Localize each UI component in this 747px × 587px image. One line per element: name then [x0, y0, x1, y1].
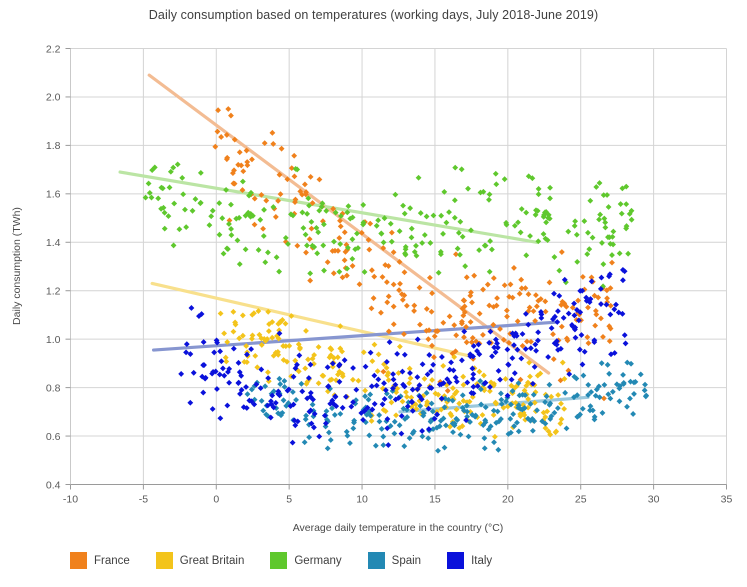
data-point	[502, 282, 508, 288]
data-point	[290, 440, 296, 446]
data-point	[256, 247, 262, 253]
data-point	[321, 268, 327, 274]
data-point	[597, 180, 603, 186]
data-point	[419, 240, 425, 246]
data-point	[585, 382, 591, 388]
data-point	[337, 411, 343, 417]
data-point	[302, 181, 308, 187]
data-point	[178, 371, 184, 377]
data-point	[581, 373, 587, 379]
data-point	[300, 225, 306, 231]
data-point	[489, 353, 495, 359]
data-point	[347, 440, 353, 446]
data-point	[179, 175, 185, 181]
data-point	[390, 371, 396, 377]
data-point	[527, 374, 533, 380]
data-point	[547, 280, 553, 286]
legend-item-france[interactable]: France	[70, 552, 130, 569]
data-point	[450, 429, 456, 435]
data-point	[400, 399, 406, 405]
data-point	[244, 162, 250, 168]
data-point	[642, 382, 648, 388]
data-point	[604, 192, 610, 198]
data-point	[235, 380, 241, 386]
x-axis-label: Average daily temperature in the country…	[293, 522, 504, 534]
data-point	[465, 186, 471, 192]
data-point	[482, 243, 488, 249]
data-point	[419, 428, 425, 434]
data-point	[303, 232, 309, 238]
data-point	[520, 331, 526, 337]
data-point	[452, 215, 458, 221]
data-point	[414, 374, 420, 380]
data-point	[425, 336, 431, 342]
data-point	[438, 213, 444, 219]
data-point	[402, 352, 408, 358]
data-point	[217, 415, 223, 421]
data-point	[363, 364, 369, 370]
data-point	[431, 354, 437, 360]
data-point	[555, 405, 561, 411]
legend-swatch-great-britain	[156, 552, 173, 569]
data-point	[317, 177, 323, 183]
data-point	[536, 191, 542, 197]
data-point	[366, 432, 372, 438]
data-point	[231, 346, 237, 352]
data-point	[558, 401, 564, 407]
data-point	[320, 243, 326, 249]
data-point	[523, 210, 529, 216]
data-point	[357, 281, 363, 287]
data-point	[302, 439, 308, 445]
data-point	[431, 213, 437, 219]
y-tick-label: 1.4	[46, 237, 61, 249]
data-point	[397, 422, 403, 428]
data-point	[167, 185, 173, 191]
data-point	[471, 273, 477, 279]
data-point	[590, 235, 596, 241]
data-point	[620, 372, 626, 378]
data-point	[325, 445, 331, 451]
data-point	[147, 190, 153, 196]
data-point	[305, 357, 311, 363]
data-point	[598, 315, 604, 321]
data-point	[218, 358, 224, 364]
data-point	[379, 426, 385, 432]
data-point	[219, 215, 225, 221]
data-point	[407, 370, 413, 376]
data-point	[286, 343, 292, 349]
data-point	[564, 425, 570, 431]
data-point	[228, 226, 234, 232]
data-point	[620, 277, 626, 283]
data-point	[350, 236, 356, 242]
data-point	[493, 181, 499, 187]
data-point	[519, 206, 525, 212]
data-point	[460, 374, 466, 380]
data-point	[373, 443, 379, 449]
data-point	[369, 306, 375, 312]
data-point	[593, 184, 599, 190]
data-point	[189, 305, 195, 311]
data-point	[274, 254, 280, 260]
data-point	[293, 397, 299, 403]
data-point	[509, 377, 515, 383]
data-point	[278, 191, 284, 197]
data-point	[609, 260, 615, 266]
data-point	[448, 360, 454, 366]
data-point	[371, 274, 377, 280]
data-point	[197, 200, 203, 206]
data-point	[355, 378, 361, 384]
data-point	[180, 191, 186, 197]
data-point	[464, 274, 470, 280]
legend-label: Germany	[294, 555, 341, 567]
data-point	[422, 376, 428, 382]
data-point	[457, 252, 463, 258]
data-point	[187, 400, 193, 406]
data-point	[344, 429, 350, 435]
data-point	[392, 431, 398, 437]
data-point	[166, 213, 172, 219]
data-point	[618, 201, 624, 207]
data-point	[208, 213, 214, 219]
data-point	[561, 406, 567, 412]
data-point	[381, 380, 387, 386]
data-point	[226, 221, 232, 227]
data-point	[346, 203, 352, 209]
data-point	[391, 321, 397, 327]
data-point	[627, 396, 633, 402]
x-tick-label: 10	[356, 494, 368, 506]
data-point	[389, 400, 395, 406]
data-point	[572, 218, 578, 224]
data-point	[619, 211, 625, 217]
data-point	[607, 312, 613, 318]
data-point	[392, 192, 398, 198]
data-point	[388, 221, 394, 227]
data-point	[277, 381, 283, 387]
data-point	[585, 230, 591, 236]
data-point	[371, 373, 377, 379]
data-point	[248, 346, 254, 352]
data-point	[409, 226, 415, 232]
data-point	[218, 311, 224, 317]
data-point	[183, 224, 189, 230]
data-point	[336, 269, 342, 275]
data-point	[623, 201, 629, 207]
data-point	[510, 411, 516, 417]
data-point	[624, 404, 630, 410]
legend-swatch-italy	[447, 552, 464, 569]
data-point	[171, 201, 177, 207]
data-point	[592, 323, 598, 329]
scatter-plot: 0.40.60.81.01.21.41.61.82.02.2-10-505101…	[0, 0, 747, 587]
data-point	[617, 250, 623, 256]
data-point	[508, 282, 514, 288]
data-point	[220, 365, 226, 371]
data-point	[584, 251, 590, 257]
data-point	[349, 256, 355, 262]
data-point	[378, 230, 384, 236]
data-point	[316, 344, 322, 350]
data-point	[460, 392, 466, 398]
data-point	[469, 300, 475, 306]
data-point	[611, 306, 617, 312]
data-point	[360, 202, 366, 208]
data-point	[307, 278, 313, 284]
data-point	[262, 259, 268, 265]
data-point	[307, 270, 313, 276]
data-point	[495, 447, 501, 453]
data-point	[367, 221, 373, 227]
data-point	[491, 275, 497, 281]
data-point	[504, 308, 510, 314]
data-point	[528, 345, 534, 351]
data-point	[440, 320, 446, 326]
data-point	[331, 270, 337, 276]
data-point	[625, 251, 631, 257]
data-point	[331, 239, 337, 245]
data-point	[606, 371, 612, 377]
data-point	[496, 368, 502, 374]
data-point	[557, 421, 563, 427]
legend-swatch-france	[70, 552, 87, 569]
data-point	[452, 197, 458, 203]
data-point	[596, 217, 602, 223]
data-point	[296, 353, 302, 359]
data-point	[451, 322, 457, 328]
data-point	[376, 351, 382, 357]
legend-item-spain[interactable]: Spain	[368, 552, 421, 569]
data-point	[397, 228, 403, 234]
data-point	[601, 395, 607, 401]
data-point	[559, 249, 565, 255]
data-point	[362, 388, 368, 394]
data-point	[455, 246, 461, 252]
data-point	[527, 233, 533, 239]
data-point	[477, 311, 483, 317]
data-point	[547, 185, 553, 191]
data-point	[459, 357, 465, 363]
data-point	[380, 401, 386, 407]
data-point	[265, 369, 271, 375]
data-point	[435, 448, 441, 454]
data-point	[551, 291, 557, 297]
data-point	[554, 319, 560, 325]
data-point	[397, 344, 403, 350]
trendline-germany	[120, 172, 537, 242]
data-point	[599, 360, 605, 366]
data-point	[577, 347, 583, 353]
x-tick-label: -5	[139, 494, 148, 506]
data-point	[533, 292, 539, 298]
data-point	[566, 311, 572, 317]
data-point	[291, 153, 297, 159]
y-tick-label: 1.6	[46, 189, 61, 201]
data-point	[162, 210, 168, 216]
trendline-layer	[120, 75, 588, 412]
x-tick-label: 5	[286, 494, 292, 506]
data-point	[599, 240, 605, 246]
x-tick-label: 30	[648, 494, 660, 506]
data-point	[380, 442, 386, 448]
data-point	[177, 226, 183, 232]
data-point	[492, 434, 498, 440]
y-tick-label: 1.0	[46, 334, 61, 346]
data-point	[573, 335, 579, 341]
data-point	[545, 354, 551, 360]
data-point	[498, 391, 504, 397]
data-point	[230, 309, 236, 315]
data-point	[402, 269, 408, 275]
data-point	[384, 299, 390, 305]
data-point	[338, 223, 344, 229]
x-tick-label: 0	[213, 494, 219, 506]
data-point	[516, 428, 522, 434]
data-point	[380, 274, 386, 280]
data-point	[303, 250, 309, 256]
data-point	[386, 377, 392, 383]
data-point	[429, 377, 435, 383]
data-point	[385, 442, 391, 448]
data-point	[369, 358, 375, 364]
data-point	[552, 254, 558, 260]
data-point	[217, 348, 223, 354]
data-point	[470, 371, 476, 377]
data-point	[350, 365, 356, 371]
data-point	[397, 281, 403, 287]
data-point	[418, 210, 424, 216]
data-point	[228, 113, 234, 119]
data-point	[304, 243, 310, 249]
chart-legend: FranceGreat BritainGermanySpainItaly	[0, 552, 747, 569]
data-point	[468, 319, 474, 325]
data-point	[452, 165, 458, 171]
data-point	[340, 405, 346, 411]
data-point	[631, 391, 637, 397]
data-point	[394, 351, 400, 357]
data-point	[193, 196, 199, 202]
data-point	[281, 397, 287, 403]
data-point	[417, 322, 423, 328]
data-point	[605, 362, 611, 368]
data-point	[518, 277, 524, 283]
legend-item-italy[interactable]: Italy	[447, 552, 492, 569]
x-tick-label: 20	[502, 494, 514, 506]
data-point	[259, 398, 265, 404]
data-point	[512, 370, 518, 376]
data-point	[426, 352, 432, 358]
data-point	[400, 203, 406, 209]
data-point	[461, 297, 467, 303]
data-point	[436, 270, 442, 276]
legend-label: Spain	[392, 555, 421, 567]
data-point	[565, 229, 571, 235]
data-point	[214, 386, 220, 392]
data-point	[638, 371, 644, 377]
data-point	[401, 443, 407, 449]
data-point	[489, 247, 495, 253]
data-point	[391, 304, 397, 310]
data-point	[325, 364, 331, 370]
data-point	[366, 247, 372, 253]
data-point	[416, 175, 422, 181]
data-point	[587, 198, 593, 204]
data-point	[609, 252, 615, 258]
data-point	[155, 195, 161, 201]
data-point	[382, 396, 388, 402]
data-point	[376, 412, 382, 418]
data-point	[502, 176, 508, 182]
data-point	[447, 313, 453, 319]
data-point	[462, 263, 468, 269]
data-point	[368, 350, 374, 356]
legend-swatch-germany	[270, 552, 287, 569]
data-point	[326, 430, 332, 436]
y-tick-label: 2.0	[46, 92, 61, 104]
data-point	[518, 356, 524, 362]
data-point	[574, 232, 580, 238]
data-point	[175, 162, 181, 168]
x-tick-label: 25	[575, 494, 587, 506]
trendline-great-britain	[152, 283, 470, 356]
data-point	[422, 232, 428, 238]
data-point	[218, 134, 224, 140]
data-point	[375, 217, 381, 223]
data-point	[420, 361, 426, 367]
data-point	[417, 285, 423, 291]
data-point	[445, 388, 451, 394]
data-point	[572, 223, 578, 229]
data-point	[237, 261, 243, 267]
data-point	[551, 356, 557, 362]
legend-item-great-britain[interactable]: Great Britain	[156, 552, 245, 569]
data-point	[408, 375, 414, 381]
data-point	[504, 314, 510, 320]
data-point	[245, 391, 251, 397]
data-point	[171, 243, 177, 249]
data-point	[307, 236, 313, 242]
data-point	[374, 223, 380, 229]
data-point	[498, 397, 504, 403]
data-point	[237, 149, 243, 155]
data-point	[511, 265, 517, 271]
data-point	[600, 410, 606, 416]
x-tick-label: 35	[721, 494, 733, 506]
data-point	[481, 373, 487, 379]
legend-item-germany[interactable]: Germany	[270, 552, 341, 569]
data-point	[581, 218, 587, 224]
data-point	[304, 211, 310, 217]
data-point	[642, 387, 648, 393]
data-point	[332, 412, 338, 418]
data-point	[506, 362, 512, 368]
data-point	[299, 388, 305, 394]
data-point	[299, 210, 305, 216]
data-point	[530, 428, 536, 434]
data-point	[559, 324, 565, 330]
data-point	[393, 412, 399, 418]
data-point	[579, 332, 585, 338]
data-point	[497, 377, 503, 383]
data-point	[486, 197, 492, 203]
data-point	[240, 168, 246, 174]
data-point	[593, 308, 599, 314]
data-point	[252, 353, 258, 359]
data-point	[476, 247, 482, 253]
data-point	[622, 332, 628, 338]
